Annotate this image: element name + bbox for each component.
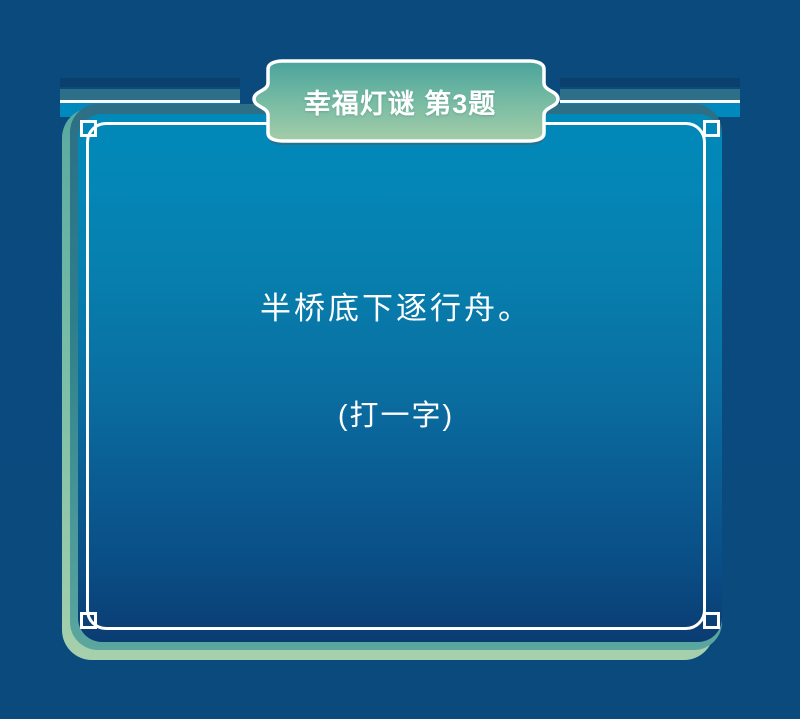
- ribbon-band-teal: [560, 89, 740, 100]
- riddle-question-text: 半桥底下逐行舟。: [260, 287, 532, 330]
- ribbon-band-teal: [60, 89, 240, 100]
- banner-title-text: 幸福灯谜 第3题: [218, 58, 582, 144]
- ribbon-band-navy: [60, 78, 240, 87]
- ribbon-band-white: [560, 100, 740, 103]
- riddle-content: 半桥底下逐行舟。 (打一字): [86, 122, 706, 630]
- ribbon-band-navy: [560, 78, 740, 87]
- riddle-hint-text: (打一字): [338, 392, 454, 434]
- lantern-riddle-card: 半桥底下逐行舟。 (打一字) 幸福灯谜 第3题: [0, 0, 800, 719]
- ribbon-band-white: [60, 100, 240, 103]
- title-banner: 幸福灯谜 第3题: [218, 58, 582, 144]
